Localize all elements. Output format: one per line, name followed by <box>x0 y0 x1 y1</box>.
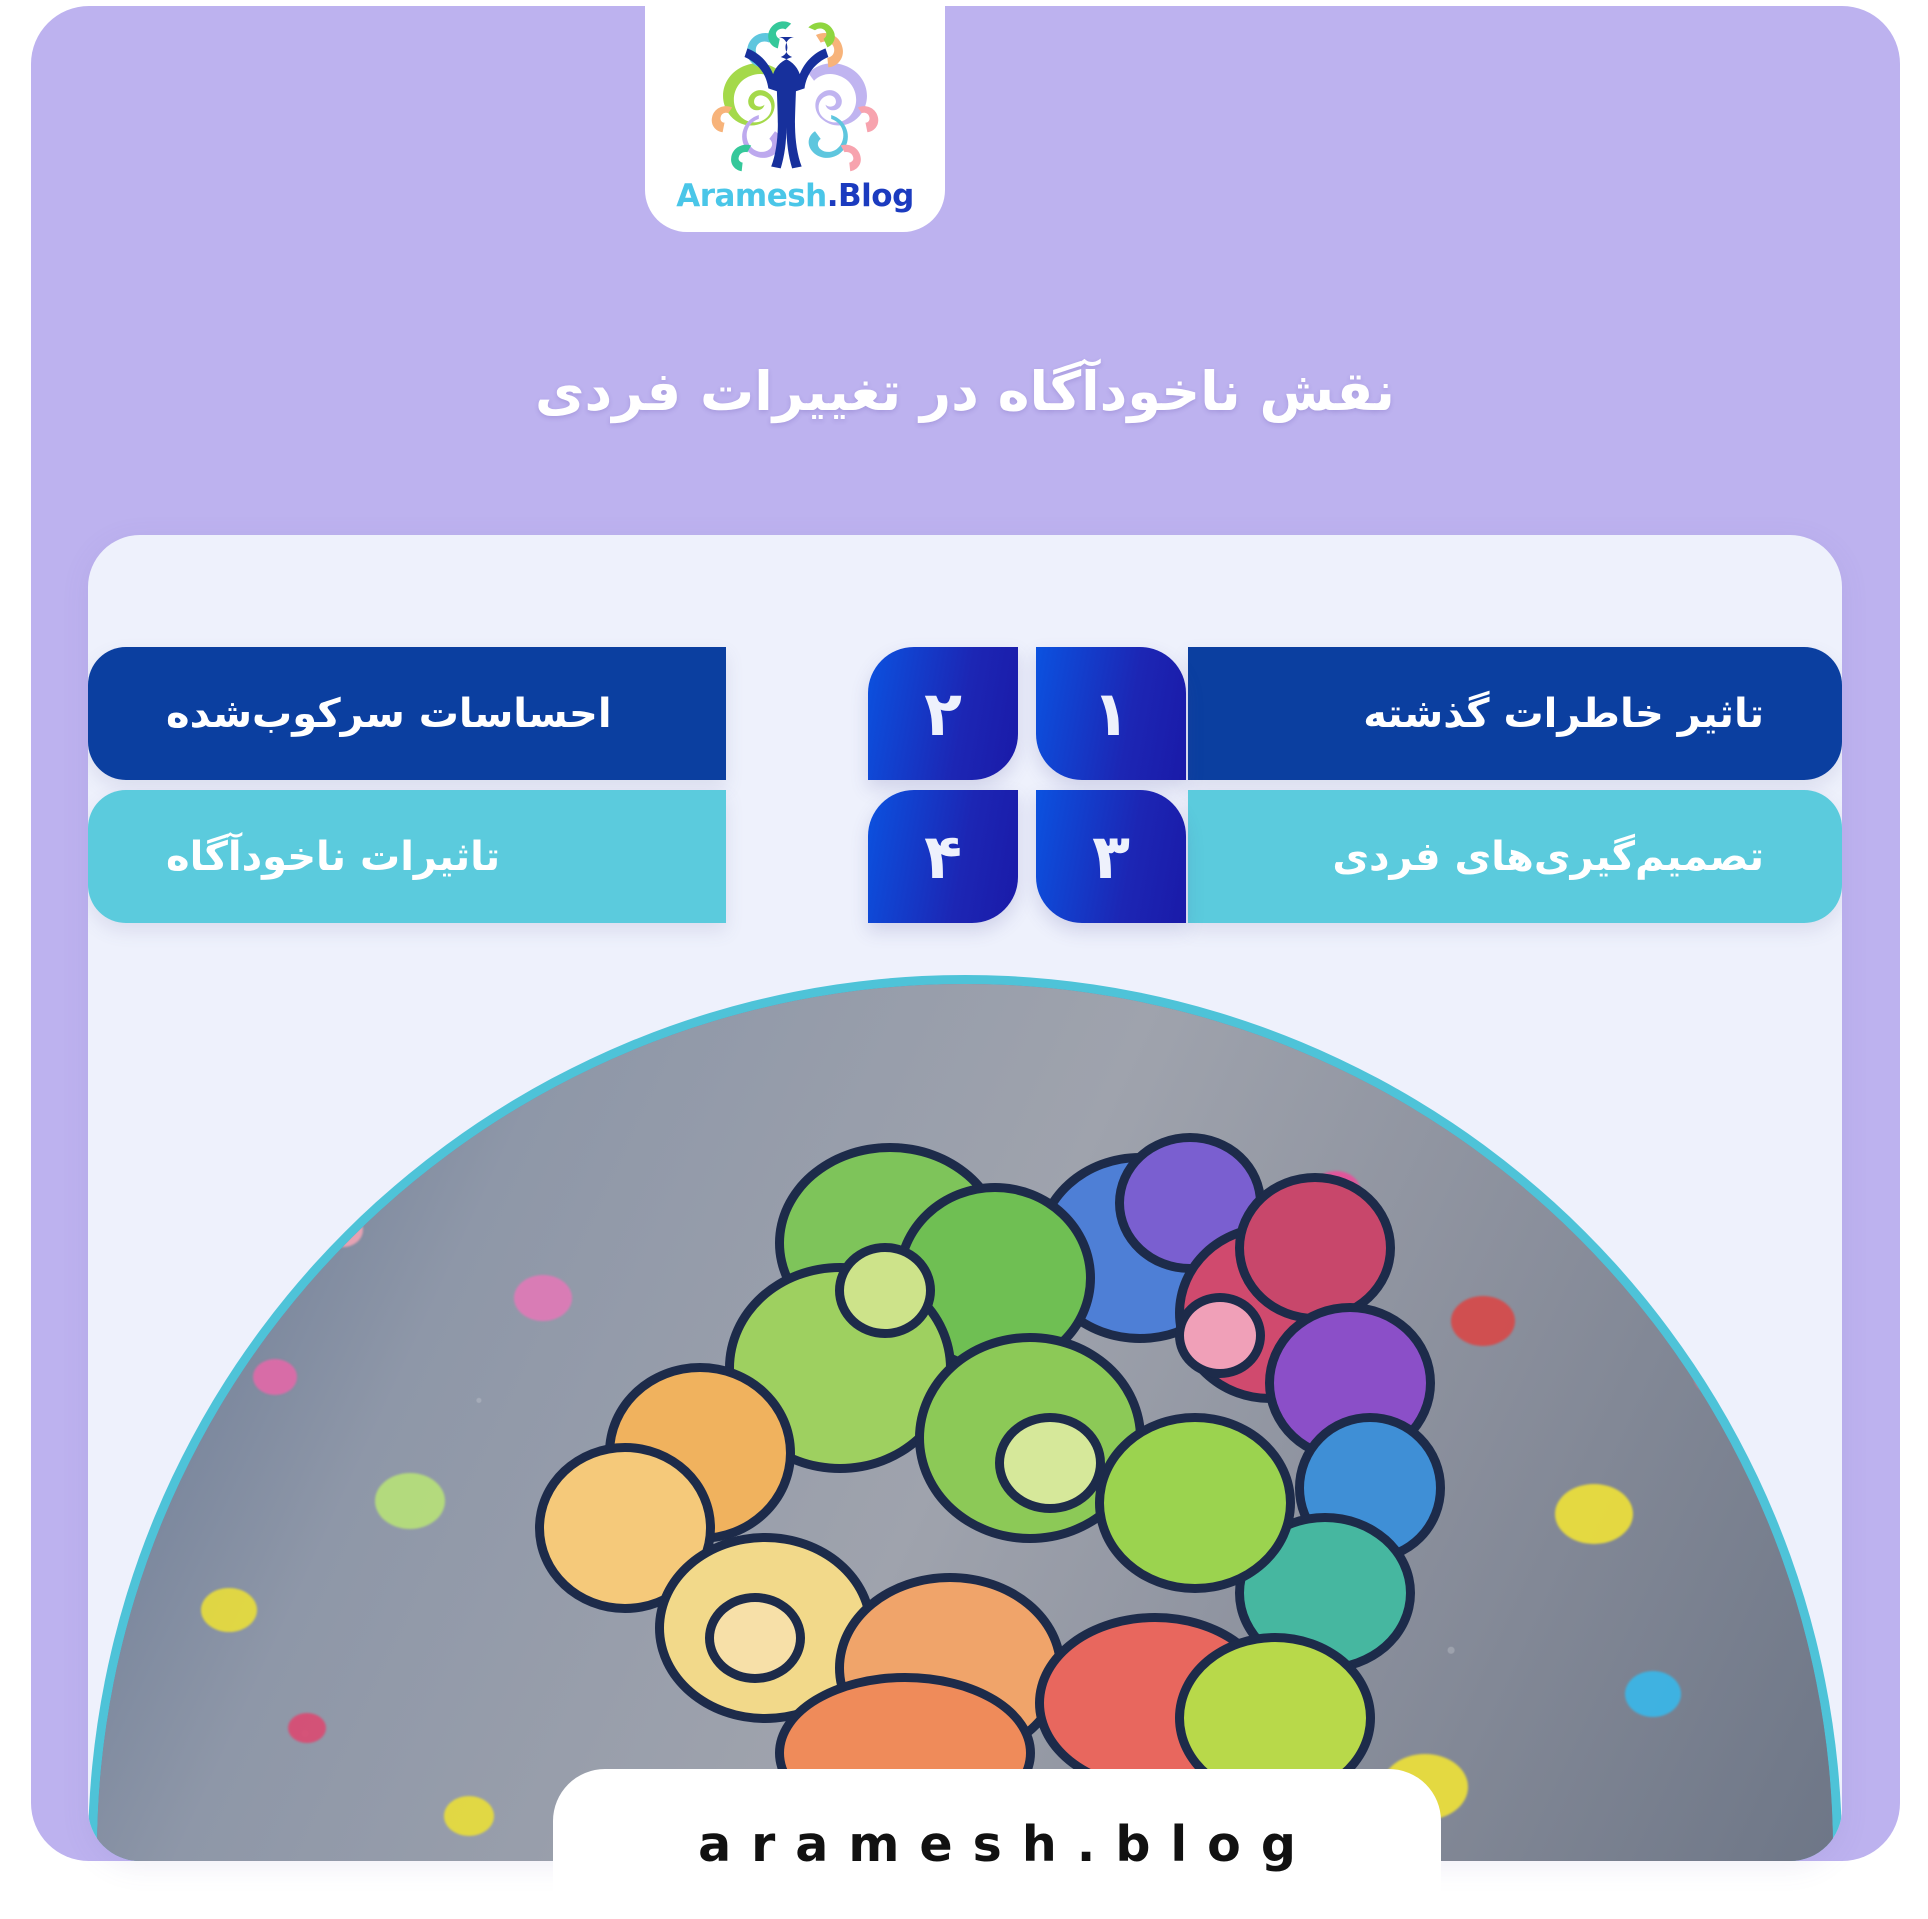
item-label-1[interactable]: تاثیر خاطرات گذشته <box>1188 647 1842 780</box>
item-label-2[interactable]: احساسات سرکوب‌شده <box>88 647 726 780</box>
item-label-text: تصمیم‌گیری‌های فردی <box>1332 834 1764 880</box>
brand-logo-badge[interactable]: Aramesh.Blog <box>645 0 945 232</box>
aramesh-tree-person-logo-icon <box>709 16 881 176</box>
content-card: تاثیر خاطرات گذشته ۱ ۲ احساسات سرکوب‌شده… <box>88 535 1842 1861</box>
item-label-text: تاثیر خاطرات گذشته <box>1363 691 1764 737</box>
arch-frame <box>88 975 1842 1861</box>
items-row-1: تاثیر خاطرات گذشته ۱ ۲ احساسات سرکوب‌شده <box>88 647 1842 780</box>
item-label-3[interactable]: تصمیم‌گیری‌های فردی <box>1188 790 1842 923</box>
item-label-4[interactable]: تاثیرات ناخودآگاه <box>88 790 726 923</box>
infographic-canvas: Aramesh.Blog نقش ناخودآگاه در تغییرات فر… <box>0 0 1928 1919</box>
items-row-2: تصمیم‌گیری‌های فردی ۳ ۴ تاثیرات ناخودآگا… <box>88 790 1842 923</box>
illustration-area <box>88 975 1842 1861</box>
brain-illustration-icon <box>475 1113 1455 1813</box>
brand-name-secondary: .Blog <box>827 178 914 214</box>
item-number-badge-1[interactable]: ۱ <box>1036 647 1186 780</box>
brand-wordmark: Aramesh.Blog <box>676 178 914 214</box>
item-number-badge-4[interactable]: ۴ <box>868 790 1018 923</box>
item-label-text: تاثیرات ناخودآگاه <box>166 834 500 880</box>
item-number-badge-2[interactable]: ۲ <box>868 647 1018 780</box>
page-title: نقش ناخودآگاه در تغییرات فردی <box>120 356 1810 429</box>
footer-website-bar[interactable]: aramesh.blog <box>553 1769 1441 1919</box>
brand-name-primary: Aramesh <box>676 178 827 214</box>
items-grid: تاثیر خاطرات گذشته ۱ ۲ احساسات سرکوب‌شده… <box>88 535 1842 845</box>
brain-photo <box>97 984 1833 1861</box>
footer-website-text: aramesh.blog <box>678 1816 1316 1873</box>
item-number-badge-3[interactable]: ۳ <box>1036 790 1186 923</box>
item-label-text: احساسات سرکوب‌شده <box>166 691 612 737</box>
